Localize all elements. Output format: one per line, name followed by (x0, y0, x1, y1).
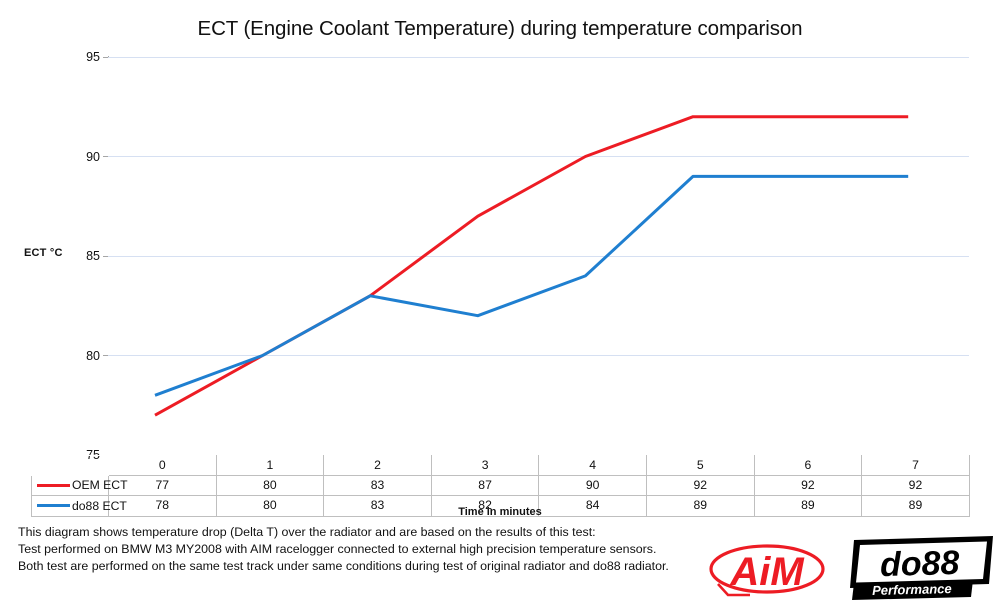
y-tick-label-90: 90 (60, 150, 100, 164)
logo-group: AiM do88 Performance (708, 532, 993, 604)
series-line-oem (155, 117, 908, 416)
do88-logo-text: do88 (879, 544, 959, 584)
aim-logo-text: AiM (729, 550, 805, 594)
legend-item-oem: OEM ECT (32, 476, 109, 496)
footer-line-1: This diagram shows temperature drop (Del… (18, 524, 718, 541)
table-cell: 92 (646, 476, 754, 496)
x-tick-label-2: 2 (324, 456, 432, 476)
y-tick-label-80: 80 (60, 349, 100, 363)
table-cell: 80 (216, 476, 324, 496)
y-tick-label-95: 95 (60, 50, 100, 64)
y-tick-label-85: 85 (60, 249, 100, 263)
x-tick-label-0: 0 (109, 456, 217, 476)
table-corner-cell (32, 456, 109, 476)
table-cell: 83 (324, 476, 432, 496)
table-row: OEM ECT 77 80 83 87 90 92 92 92 (32, 476, 970, 496)
legend-swatch-oem (37, 484, 70, 487)
table-cell: 92 (754, 476, 862, 496)
chart-page: ECT (Engine Coolant Temperature) during … (0, 0, 1000, 613)
table-header-row: 0 1 2 3 4 5 6 7 (32, 456, 970, 476)
series-lines (108, 57, 969, 455)
footer-note: This diagram shows temperature drop (Del… (18, 524, 718, 576)
do88-logo: do88 Performance (848, 534, 993, 600)
aim-logo: AiM (708, 538, 826, 600)
x-tick-label-3: 3 (431, 456, 539, 476)
footer-line-2: Test performed on BMW M3 MY2008 with AIM… (18, 541, 718, 558)
table-cell: 90 (539, 476, 647, 496)
x-tick-label-6: 6 (754, 456, 862, 476)
footer-line-3: Both test are performed on the same test… (18, 558, 718, 575)
plot-area (108, 57, 969, 455)
x-axis-title: Time in minutes (0, 506, 1000, 518)
legend-label-oem: OEM ECT (72, 476, 128, 495)
y-axis-ticks: 95 90 85 80 75 (55, 0, 100, 613)
x-tick-label-7: 7 (862, 456, 970, 476)
x-tick-label-1: 1 (216, 456, 324, 476)
do88-logo-subtext: Performance (872, 581, 952, 598)
page-title: ECT (Engine Coolant Temperature) during … (0, 17, 1000, 41)
x-tick-label-5: 5 (646, 456, 754, 476)
series-line-do88 (155, 176, 908, 395)
x-tick-label-4: 4 (539, 456, 647, 476)
table-cell: 87 (431, 476, 539, 496)
table-cell: 92 (862, 476, 970, 496)
